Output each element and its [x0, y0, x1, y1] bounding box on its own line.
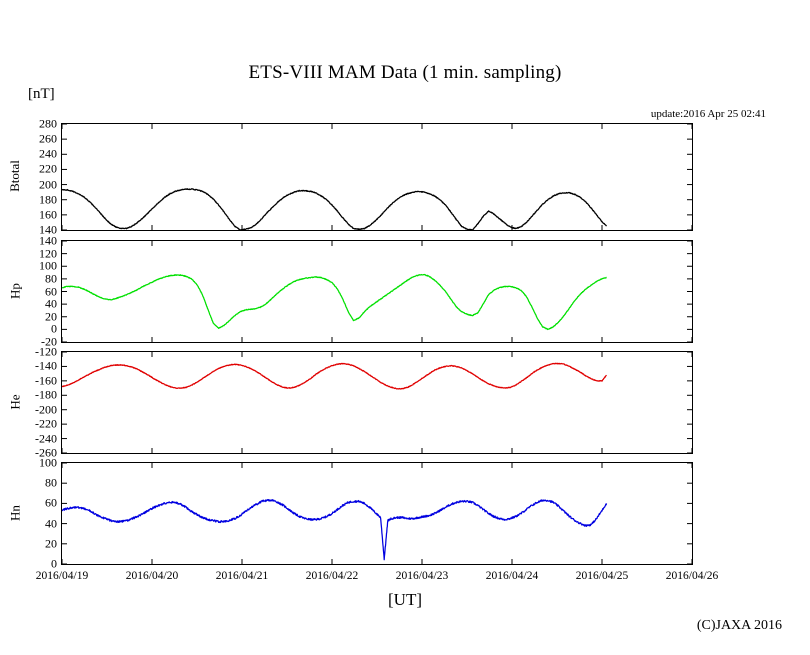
page-title: ETS-VIII MAM Data (1 min. sampling) — [0, 62, 810, 84]
y-tick-label: 100 — [39, 456, 57, 471]
trace-hn — [62, 463, 692, 564]
x-tick-label: 2016/04/21 — [216, 570, 268, 582]
chart-page: ETS-VIII MAM Data (1 min. sampling) [nT]… — [0, 0, 810, 655]
y-tick-label: 80 — [45, 476, 57, 491]
x-tick-label: 2016/04/24 — [486, 570, 538, 582]
y-tick-label: 20 — [45, 536, 57, 551]
trace-hp — [62, 241, 692, 342]
trace-btotal — [62, 124, 692, 230]
y-tick-label: 140 — [39, 234, 57, 249]
y-tick-label: -240 — [35, 431, 57, 446]
x-tick-label: 2016/04/25 — [576, 570, 628, 582]
x-tick-label: 2016/04/20 — [126, 570, 178, 582]
y-tick-label: -180 — [35, 388, 57, 403]
y-tick-label: 60 — [45, 496, 57, 511]
x-tick-label: 2016/04/26 — [666, 570, 718, 582]
y-tick-label: 180 — [39, 192, 57, 207]
panel-axis-label-hp: Hp — [7, 239, 23, 342]
panel-axis-label-he: He — [7, 350, 23, 453]
plot-panel-btotal — [61, 123, 693, 231]
panel-axis-label-btotal: Btotal — [7, 122, 23, 230]
trace-he — [62, 352, 692, 453]
y-tick-label: 40 — [45, 516, 57, 531]
panel-axis-label-hn: Hn — [7, 461, 23, 564]
update-timestamp: update:2016 Apr 25 02:41 — [651, 108, 766, 120]
plot-panel-he — [61, 351, 693, 454]
y-tick-label: -200 — [35, 402, 57, 417]
y-tick-label: -120 — [35, 345, 57, 360]
plot-panel-hn — [61, 462, 693, 565]
y-tick-label: 240 — [39, 147, 57, 162]
y-tick-label: -140 — [35, 359, 57, 374]
plot-panel-hp — [61, 240, 693, 343]
y-tick-label: 260 — [39, 132, 57, 147]
y-tick-label: 280 — [39, 117, 57, 132]
y-unit-label: [nT] — [28, 86, 55, 103]
y-tick-label: 200 — [39, 177, 57, 192]
y-tick-label: -160 — [35, 373, 57, 388]
y-tick-label: 220 — [39, 162, 57, 177]
x-tick-label: 2016/04/19 — [36, 570, 88, 582]
x-tick-label: 2016/04/22 — [306, 570, 358, 582]
x-tick-label: 2016/04/23 — [396, 570, 448, 582]
x-axis-label: [UT] — [0, 590, 810, 610]
copyright-credit: (C)JAXA 2016 — [697, 618, 782, 634]
y-tick-label: 160 — [39, 207, 57, 222]
y-tick-label: -220 — [35, 417, 57, 432]
